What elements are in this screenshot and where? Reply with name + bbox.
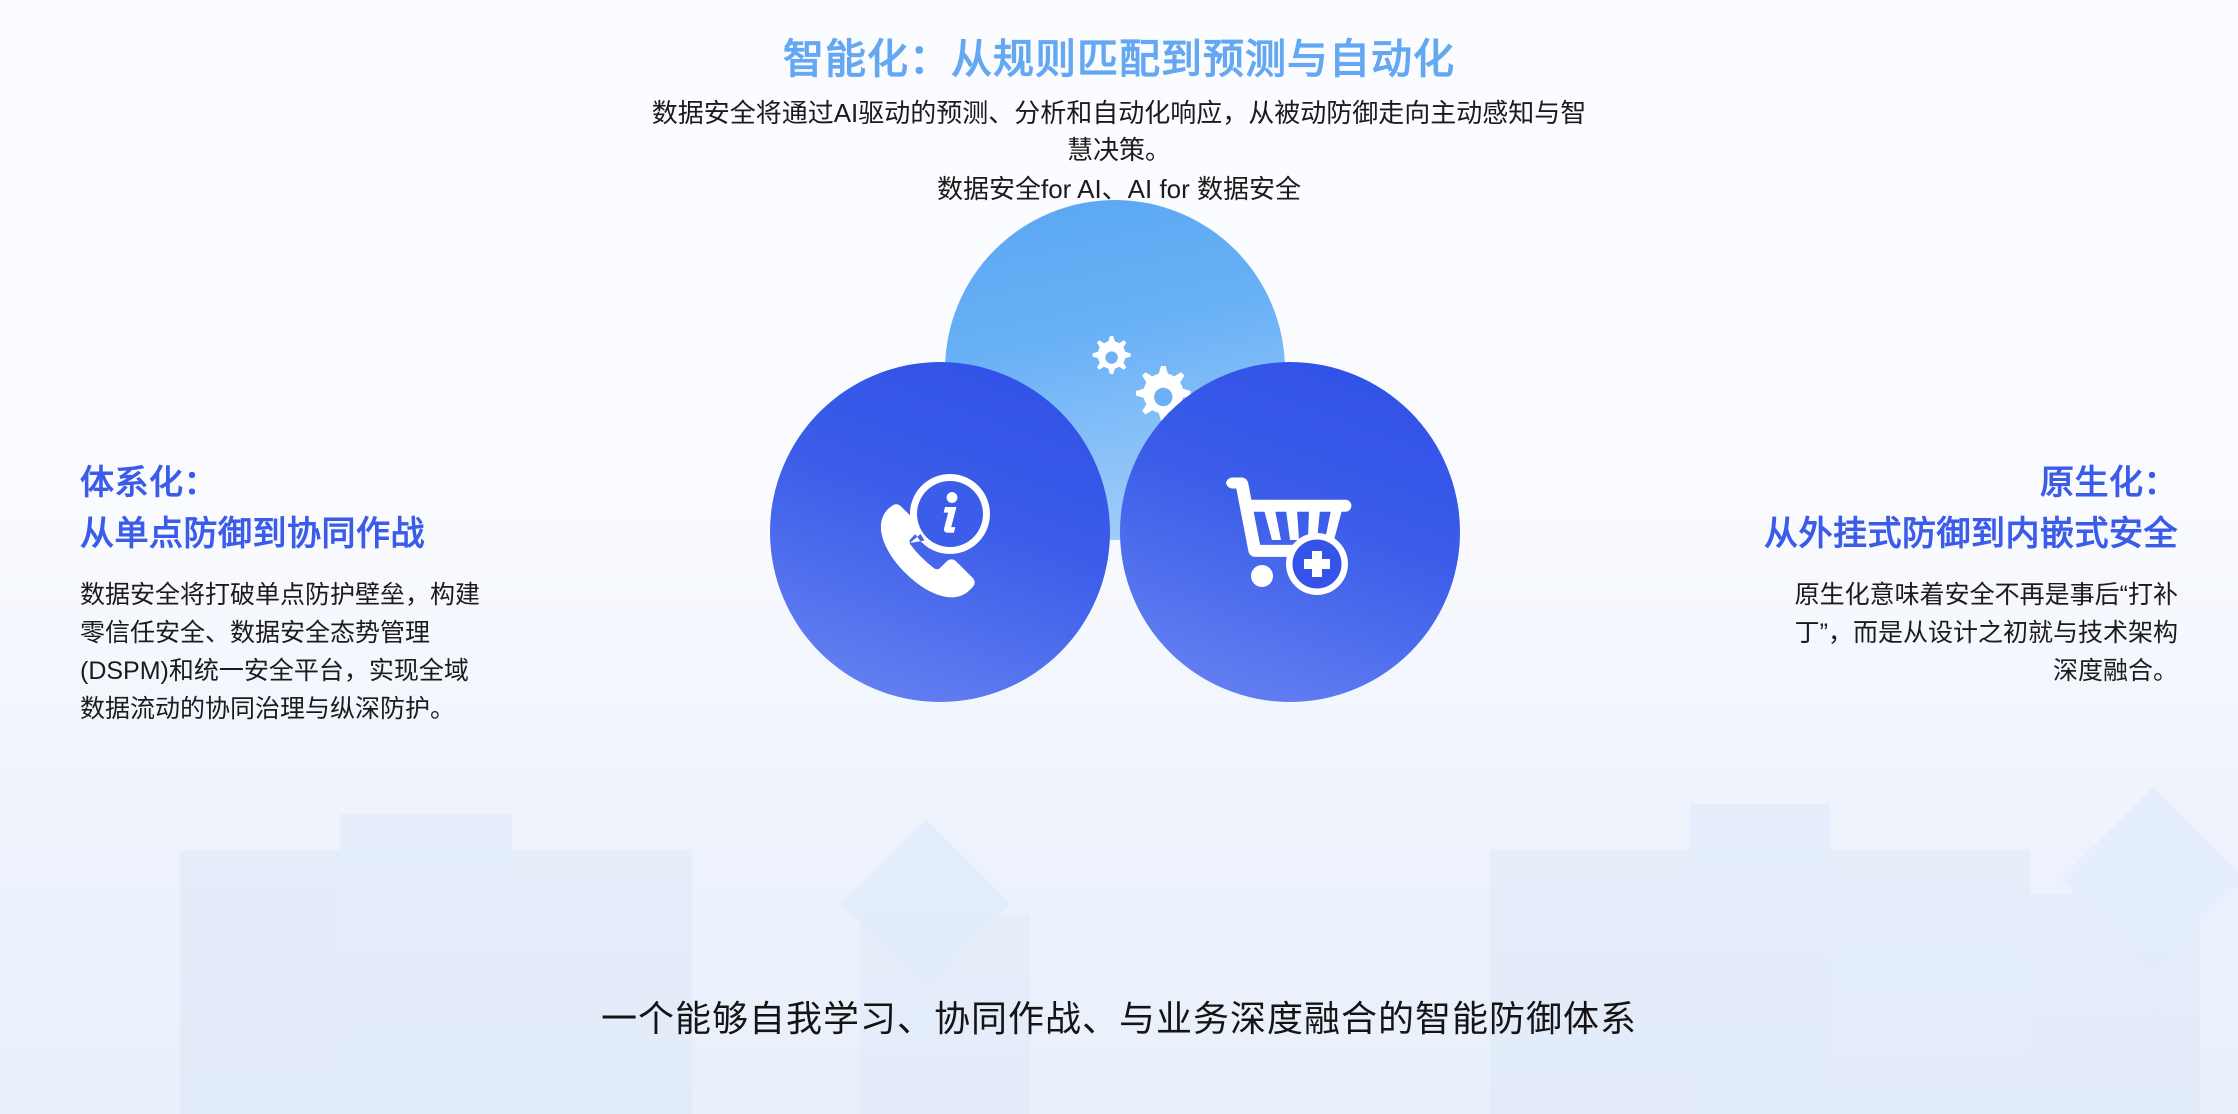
venn-circle-native [1120,362,1460,702]
top-description: 数据安全将通过AI驱动的预测、分析和自动化响应，从被动防御走向主动感知与智 慧决… [489,95,1749,169]
left-panel: 体系化： 从单点防御到协同作战 数据安全将打破单点防护壁垒，构建 零信任安全、数… [62,458,662,728]
right-panel-title: 原生化： 从外挂式防御到内嵌式安全 [1590,458,2190,560]
right-panel-body-line-3: 深度融合。 [1590,652,2178,690]
left-panel-body-line-1: 数据安全将打破单点防护壁垒，构建 [80,576,662,614]
left-panel-body-line-3: (DSPM)和统一安全平台，实现全域 [80,652,662,690]
page-title: 智能化：从规则匹配到预测与自动化 [489,34,1749,85]
left-panel-body-line-4: 数据流动的协同治理与纵深防护。 [80,690,662,728]
right-panel-body: 原生化意味着安全不再是事后“打补 丁”，而是从设计之初就与技术架构 深度融合。 [1590,576,2190,690]
right-panel-body-line-1: 原生化意味着安全不再是事后“打补 [1590,576,2178,614]
bottom-caption: 一个能够自我学习、协同作战、与业务深度融合的智能防御体系 [319,990,1919,1042]
right-panel-title-line-1: 原生化： [1590,458,2178,509]
phone-info-icon [864,472,1004,604]
left-panel-body-line-2: 零信任安全、数据安全态势管理 [80,614,662,652]
slide-content: 智能化：从规则匹配到预测与自动化 数据安全将通过AI驱动的预测、分析和自动化响应… [0,0,2238,1114]
top-text-block: 智能化：从规则匹配到预测与自动化 数据安全将通过AI驱动的预测、分析和自动化响应… [489,34,1749,208]
right-panel: 原生化： 从外挂式防御到内嵌式安全 原生化意味着安全不再是事后“打补 丁”，而是… [1590,458,2190,690]
left-panel-body: 数据安全将打破单点防护壁垒，构建 零信任安全、数据安全态势管理 (DSPM)和统… [62,576,662,728]
left-panel-title: 体系化： 从单点防御到协同作战 [62,458,662,560]
venn-diagram [765,200,1465,620]
venn-circle-systematic [770,362,1110,702]
right-panel-title-line-2: 从外挂式防御到内嵌式安全 [1590,509,2178,560]
top-description-line-1: 数据安全将通过AI驱动的预测、分析和自动化响应，从被动防御走向主动感知与智 [652,98,1587,128]
left-panel-title-line-1: 体系化： [80,458,662,509]
cart-plus-icon [1220,474,1360,602]
left-panel-title-line-2: 从单点防御到协同作战 [80,509,662,560]
top-description-line-2: 慧决策。 [489,132,1749,169]
right-panel-body-line-2: 丁”，而是从设计之初就与技术架构 [1590,614,2178,652]
